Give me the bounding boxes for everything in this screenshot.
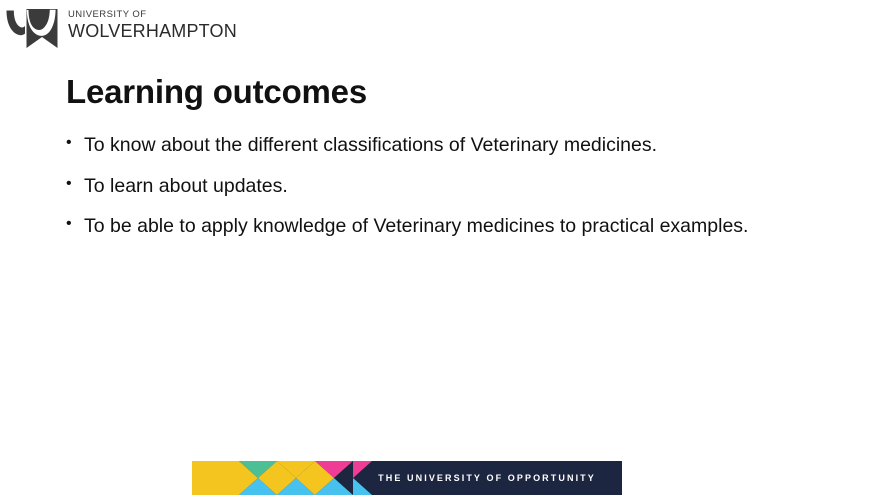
bullet-point-icon: • [66, 173, 84, 196]
wolverhampton-w-banner-icon [4, 4, 62, 50]
footer-banner: THE UNIVERSITY OF OPPORTUNITY [192, 461, 622, 495]
list-item: • To be able to apply knowledge of Veter… [66, 213, 806, 241]
list-item: • To learn about updates. [66, 173, 806, 201]
slide-canvas: UNIVERSITY OF WOLVERHAMPTON Learning out… [0, 0, 880, 495]
list-item-text: To learn about updates. [84, 173, 784, 201]
slide-title: Learning outcomes [66, 74, 367, 110]
list-item-text: To be able to apply knowledge of Veterin… [84, 213, 784, 241]
learning-outcomes-list: • To know about the different classifica… [66, 132, 806, 241]
logo-line-university-of: UNIVERSITY OF [68, 10, 237, 20]
list-item: • To know about the different classifica… [66, 132, 806, 160]
footer-tagline: THE UNIVERSITY OF OPPORTUNITY [352, 461, 622, 495]
logo-wordmark: UNIVERSITY OF WOLVERHAMPTON [68, 10, 237, 40]
logo-line-wolverhampton: WOLVERHAMPTON [68, 22, 237, 40]
list-item-text: To know about the different classificati… [84, 132, 784, 160]
university-logo: UNIVERSITY OF WOLVERHAMPTON [4, 4, 237, 50]
bullet-point-icon: • [66, 213, 84, 236]
bullet-point-icon: • [66, 132, 84, 155]
